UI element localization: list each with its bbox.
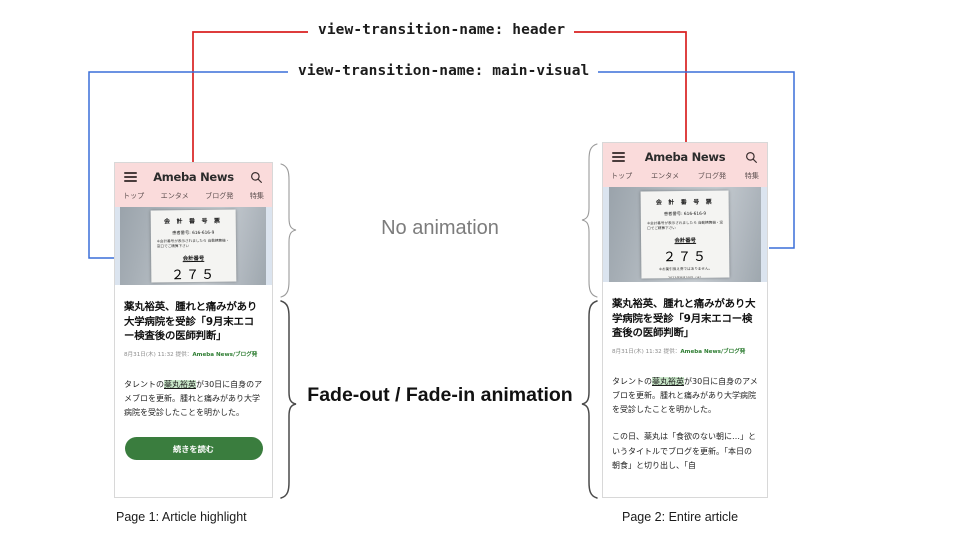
hamburger-icon[interactable] xyxy=(612,152,625,162)
article-source-label: 提供： xyxy=(664,349,681,355)
brace-right-top xyxy=(582,144,597,297)
search-icon[interactable] xyxy=(250,171,263,184)
receipt-number-label: 会計番号 xyxy=(183,254,205,262)
receipt-note: ※会計番号が表示されましたら 自動精算機・窓口でご精算下さい xyxy=(157,239,230,250)
receipt-note: ※会計番号が表示されましたら 自動精算機・窓口でご精算下さい xyxy=(647,220,723,231)
article-keyword-link[interactable]: 薬丸裕英 xyxy=(652,377,684,386)
app-header-top-row: Ameba News xyxy=(115,163,272,187)
article-paragraph-2: この日、薬丸は「食欲のない朝に…」というタイトルでブログを更新。「本日の朝食」と… xyxy=(612,430,758,473)
receipt-number: ２７５ xyxy=(663,245,708,264)
article-paragraph-1: タレントの薬丸裕英が30日に自身のアメブロを更新。腫れと痛みがあり大学病院を受診… xyxy=(612,375,758,418)
receipt-footnote: ※お薬引換え券ではありません。 xyxy=(659,267,712,273)
nav-item-feature[interactable]: 特集 xyxy=(250,191,264,201)
nav-item-top[interactable]: トップ xyxy=(123,191,144,201)
hamburger-icon[interactable] xyxy=(124,172,137,182)
article-meta: 8月31日(木) 11:32 提供：Ameba News/ブログ発 xyxy=(124,351,263,359)
brace-left-bottom xyxy=(281,301,296,498)
paragraph-1-pre: タレントの xyxy=(612,377,652,386)
caption-page-1: Page 1: Article highlight xyxy=(116,510,247,524)
article-date: 8月31日(木) 11:32 xyxy=(612,349,662,355)
brand-logo: Ameba News xyxy=(137,170,250,184)
article-source-name: Ameba News/ブログ発 xyxy=(680,349,745,355)
receipt-patient-number: 患者番号: 616-616-9 xyxy=(172,230,214,236)
receipt-barcode xyxy=(648,208,722,209)
nav-item-entame[interactable]: エンタメ xyxy=(161,191,189,201)
app-header-page-1: Ameba News トップ エンタメ ブログ発 特集 xyxy=(115,163,272,207)
main-visual-page-1: 会 計 番 号 票 患者番号: 616-616-9 ※会計番号が表示されましたら… xyxy=(115,207,272,285)
nav-item-entame[interactable]: エンタメ xyxy=(651,171,679,181)
paragraph-1-pre: タレントの xyxy=(124,380,164,389)
app-header-top-row: Ameba News xyxy=(603,143,767,167)
receipt-graphic: 会 計 番 号 票 患者番号: 616-616-9 ※会計番号が表示されましたら… xyxy=(640,190,729,278)
article-content-page-1: 薬丸裕英、腫れと痛みがあり大学病院を受診「9月末エコー検査後の医師判断」 8月3… xyxy=(115,285,272,460)
article-paragraph-1: タレントの薬丸裕英が30日に自身のアメブロを更新。腫れと痛みがあり大学病院を受診… xyxy=(124,378,263,421)
brand-logo: Ameba News xyxy=(625,150,745,164)
caption-page-2: Page 2: Entire article xyxy=(622,510,738,524)
article-date: 8月31日(木) 11:32 xyxy=(124,352,174,358)
phone-mockup-page-1: Ameba News トップ エンタメ ブログ発 特集 会 計 番 号 票 xyxy=(114,162,273,498)
receipt-graphic: 会 計 番 号 票 患者番号: 616-616-9 ※会計番号が表示されましたら… xyxy=(151,210,236,283)
app-nav-page-2: トップ エンタメ ブログ発 特集 xyxy=(603,167,767,187)
fade-animation-label: Fade-out / Fade-in animation xyxy=(296,382,584,410)
nav-item-blog[interactable]: ブログ発 xyxy=(205,191,233,201)
article-keyword-link[interactable]: 薬丸裕英 xyxy=(164,380,196,389)
diagram-canvas: view-transition-name: header view-transi… xyxy=(0,0,960,540)
read-more-button[interactable]: 続きを読む xyxy=(125,437,263,460)
nav-item-feature[interactable]: 特集 xyxy=(745,171,759,181)
view-transition-header-label: view-transition-name: header xyxy=(309,22,574,38)
receipt-number: ２７５ xyxy=(171,263,216,282)
article-source-name: Ameba News/ブログ発 xyxy=(192,352,257,358)
receipt-number-label: 会計番号 xyxy=(674,235,696,243)
article-meta: 8月31日(木) 11:32 提供：Ameba News/ブログ発 xyxy=(612,348,758,356)
view-transition-main-visual-label: view-transition-name: main-visual xyxy=(289,63,598,79)
phone-mockup-page-2: Ameba News トップ エンタメ ブログ発 特集 会 計 番 号 票 xyxy=(602,142,768,498)
app-header-page-2: Ameba News トップ エンタメ ブログ発 特集 xyxy=(603,143,767,187)
article-content-page-2: 薬丸裕英、腫れと痛みがあり大学病院を受診「9月末エコー検査後の医師判断」 8月3… xyxy=(603,282,767,473)
app-nav-page-1: トップ エンタメ ブログ発 特集 xyxy=(115,187,272,207)
receipt-barcode xyxy=(158,227,229,228)
main-visual-photo: 会 計 番 号 票 患者番号: 616-616-9 ※会計番号が表示されましたら… xyxy=(609,187,762,282)
receipt-patient-number: 患者番号: 616-616-9 xyxy=(664,211,706,217)
receipt-date: 2023年8月30日（水） xyxy=(668,274,704,278)
article-source-label: 提供： xyxy=(176,352,193,358)
nav-item-top[interactable]: トップ xyxy=(611,171,632,181)
article-title: 薬丸裕英、腫れと痛みがあり大学病院を受診「9月末エコー検査後の医師判断」 xyxy=(124,300,263,344)
brace-right-bottom xyxy=(582,301,597,498)
article-title: 薬丸裕英、腫れと痛みがあり大学病院を受診「9月末エコー検査後の医師判断」 xyxy=(612,297,758,341)
receipt-title: 会 計 番 号 票 xyxy=(164,216,222,226)
main-visual-page-2: 会 計 番 号 票 患者番号: 616-616-9 ※会計番号が表示されましたら… xyxy=(603,187,767,282)
brace-left-top xyxy=(281,164,296,297)
main-visual-photo: 会 計 番 号 票 患者番号: 616-616-9 ※会計番号が表示されましたら… xyxy=(120,207,266,285)
no-animation-label: No animation xyxy=(296,217,584,240)
receipt-title: 会 計 番 号 票 xyxy=(655,197,713,207)
nav-item-blog[interactable]: ブログ発 xyxy=(698,171,726,181)
search-icon[interactable] xyxy=(745,151,758,164)
